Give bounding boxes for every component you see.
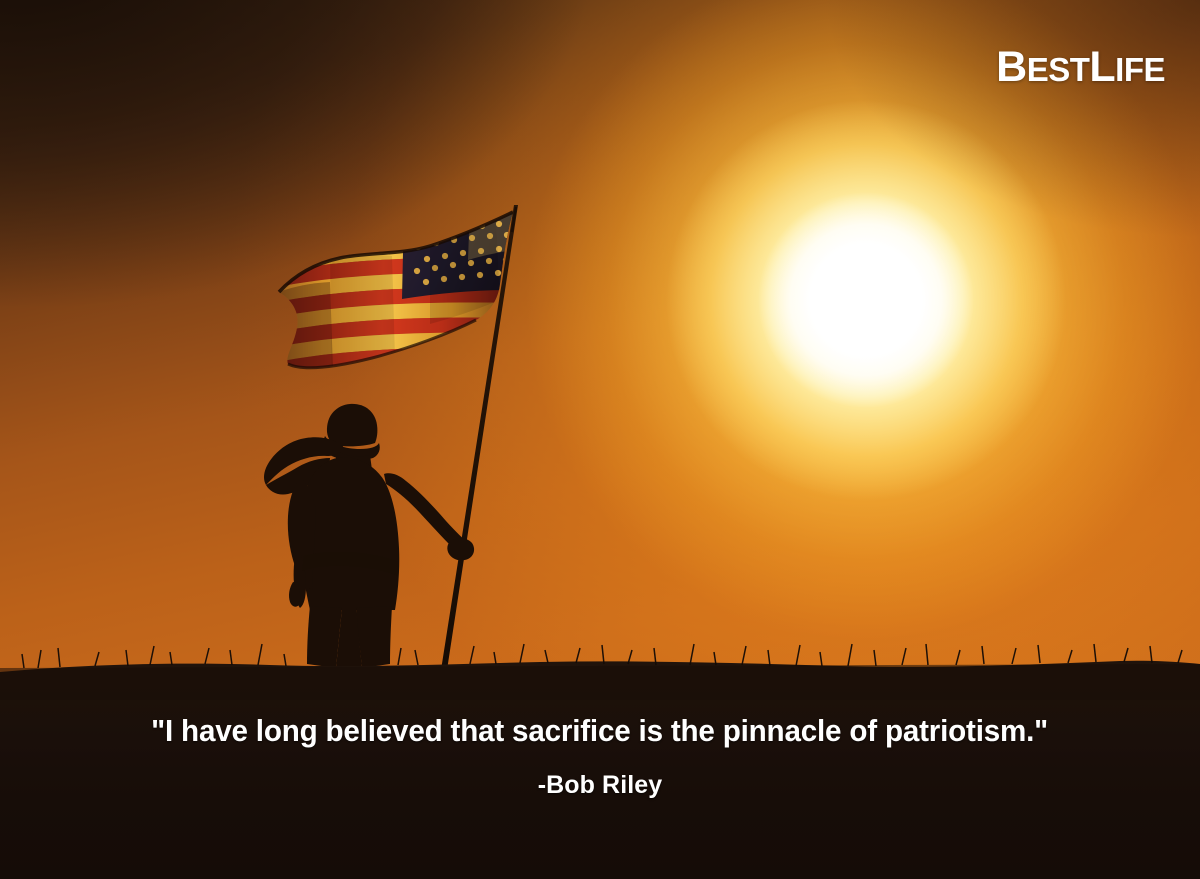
caption-bar: "I have long believed that sacrifice is … [0, 697, 1200, 879]
logo-letters-ife: IFE [1115, 51, 1165, 88]
soldier-silhouette [264, 404, 474, 668]
logo-letters-est: EST [1027, 51, 1090, 88]
logo-letter-b: B [996, 43, 1027, 91]
bestlife-logo[interactable]: BESTLIFE [996, 46, 1165, 89]
quote-text: "I have long believed that sacrifice is … [152, 713, 1049, 749]
quote-graphic: BESTLIFE "I have long believed that sacr… [0, 0, 1200, 879]
quote-attribution: -Bob Riley [538, 771, 663, 800]
logo-letter-l: L [1089, 43, 1115, 91]
